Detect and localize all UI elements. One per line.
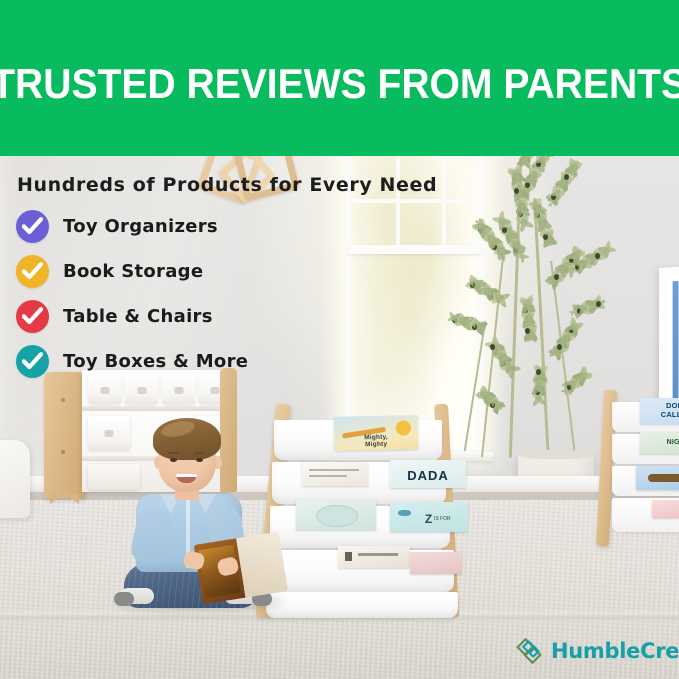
book-cover	[296, 500, 376, 530]
humblecrew-logo-icon	[514, 636, 544, 666]
child-reading	[118, 412, 278, 602]
open-picture-book	[194, 532, 289, 607]
book-cover	[302, 462, 368, 486]
organizer-side-panel	[44, 372, 85, 498]
book-cover: DADA	[390, 460, 466, 488]
book-cover	[338, 546, 410, 568]
brand-logo-text: HumbleCrew	[551, 639, 679, 663]
banner-title: TRUSTED REVIEWS FROM PARENTS	[0, 63, 679, 105]
book-cover: DON'T CALL ME	[640, 398, 679, 424]
book-cover	[636, 466, 679, 490]
check-icon	[16, 345, 49, 378]
brand-logo: HumbleCrew	[514, 636, 679, 666]
checklist-label: Toy Boxes & More	[63, 351, 248, 372]
checklist-item-book-storage: Book Storage	[16, 249, 346, 294]
check-icon	[16, 300, 49, 333]
book-cover: Mighty, Mighty	[334, 415, 419, 450]
plant-pot-rim	[518, 450, 594, 459]
checklist-label: Table & Chairs	[63, 306, 213, 327]
header-banner: TRUSTED REVIEWS FROM PARENTS	[0, 0, 679, 156]
checklist-label: Toy Organizers	[63, 216, 218, 237]
feature-checklist: Toy Organizers Book Storage Table & Chai…	[16, 204, 346, 384]
check-icon	[16, 210, 49, 243]
book-cover: NIGHT	[640, 432, 679, 454]
book-cover	[652, 500, 679, 518]
checklist-label: Book Storage	[63, 261, 203, 282]
checklist-item-toy-organizers: Toy Organizers	[16, 204, 346, 249]
sling-bookshelf-right: DON'T CALL ME NIGHT	[596, 390, 679, 550]
checklist-item-toy-boxes: Toy Boxes & More	[16, 339, 346, 384]
book-cover	[410, 552, 462, 574]
check-icon	[16, 255, 49, 288]
subtitle-text: Hundreds of Products for Every Need	[17, 174, 437, 196]
screenshot-root: Mighty, Mighty DADA Z IS FOR	[0, 0, 679, 679]
book-sling-row	[266, 592, 458, 618]
book-cover: Z IS FOR	[390, 502, 468, 532]
child-hair	[153, 418, 221, 460]
checklist-item-table-chairs: Table & Chairs	[16, 294, 346, 339]
sofa-edge	[0, 440, 30, 518]
